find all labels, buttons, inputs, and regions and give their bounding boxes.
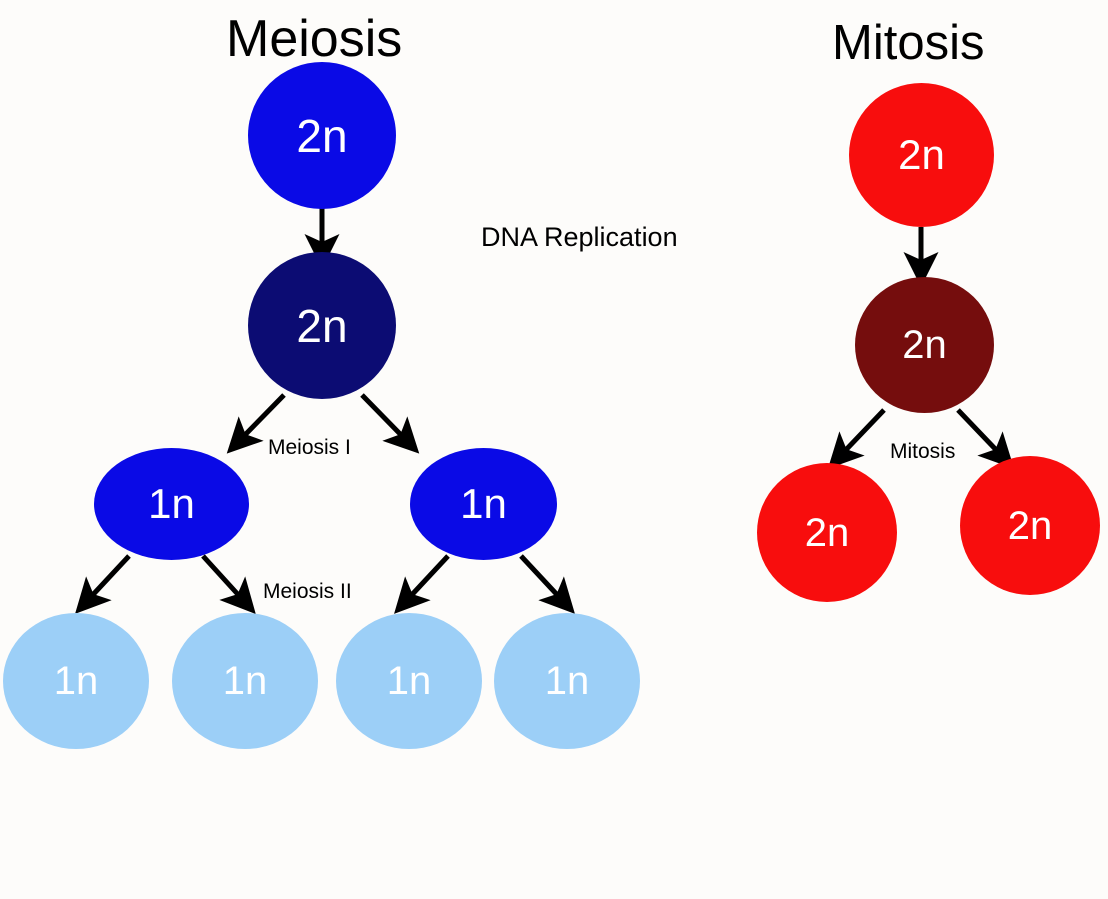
mitosis-step-label: Mitosis bbox=[890, 441, 955, 462]
meiosis-parent-ploidy: 2n bbox=[296, 113, 347, 159]
arrow-meiosis-two-c bbox=[407, 556, 448, 600]
mitosis-daughter-left-ploidy: 2n bbox=[805, 513, 850, 553]
mitosis-daughter-right-cell: 2n bbox=[960, 456, 1100, 595]
meiosis-gamete-4-ploidy: 1n bbox=[545, 661, 590, 701]
dna-replication-label: DNA Replication bbox=[481, 224, 678, 251]
meiosis-daughter-left-cell: 1n bbox=[94, 448, 249, 560]
mitosis-parent-cell: 2n bbox=[849, 83, 994, 227]
meiosis-daughter-right-cell: 1n bbox=[410, 448, 557, 560]
mitosis-replicated-ploidy: 2n bbox=[902, 325, 947, 365]
mitosis-replicated-cell: 2n bbox=[855, 277, 994, 413]
arrow-meiosis-two-a bbox=[88, 556, 129, 600]
arrow-meiosis-two-b bbox=[203, 556, 243, 600]
meiosis-daughter-right-ploidy: 1n bbox=[460, 483, 507, 525]
mitosis-title: Mitosis bbox=[832, 19, 984, 68]
cell-division-diagram: Meiosis 2n 2n DNA Replication Meiosis I … bbox=[0, 0, 1108, 899]
meiosis-gamete-1-ploidy: 1n bbox=[54, 661, 99, 701]
meiosis-gamete-1-cell: 1n bbox=[3, 613, 149, 749]
arrow-meiosis-one-right bbox=[362, 395, 406, 440]
meiosis-replicated-ploidy: 2n bbox=[296, 303, 347, 349]
arrow-mitosis-left bbox=[841, 410, 884, 455]
arrow-meiosis-two-d bbox=[521, 556, 562, 600]
mitosis-daughter-right-ploidy: 2n bbox=[1008, 506, 1053, 546]
meiosis-gamete-3-ploidy: 1n bbox=[387, 661, 432, 701]
meiosis-one-label: Meiosis I bbox=[268, 437, 351, 458]
mitosis-parent-ploidy: 2n bbox=[898, 134, 945, 176]
meiosis-gamete-4-cell: 1n bbox=[494, 613, 640, 749]
mitosis-daughter-left-cell: 2n bbox=[757, 463, 897, 602]
meiosis-gamete-3-cell: 1n bbox=[336, 613, 482, 749]
meiosis-parent-cell: 2n bbox=[248, 62, 396, 209]
meiosis-gamete-2-ploidy: 1n bbox=[223, 661, 268, 701]
meiosis-gamete-2-cell: 1n bbox=[172, 613, 318, 749]
arrow-meiosis-one-left bbox=[240, 395, 284, 440]
meiosis-daughter-left-ploidy: 1n bbox=[148, 483, 195, 525]
meiosis-two-label: Meiosis II bbox=[263, 581, 352, 602]
meiosis-replicated-cell: 2n bbox=[248, 252, 396, 399]
arrow-mitosis-right bbox=[958, 410, 1001, 455]
meiosis-title: Meiosis bbox=[226, 13, 402, 65]
